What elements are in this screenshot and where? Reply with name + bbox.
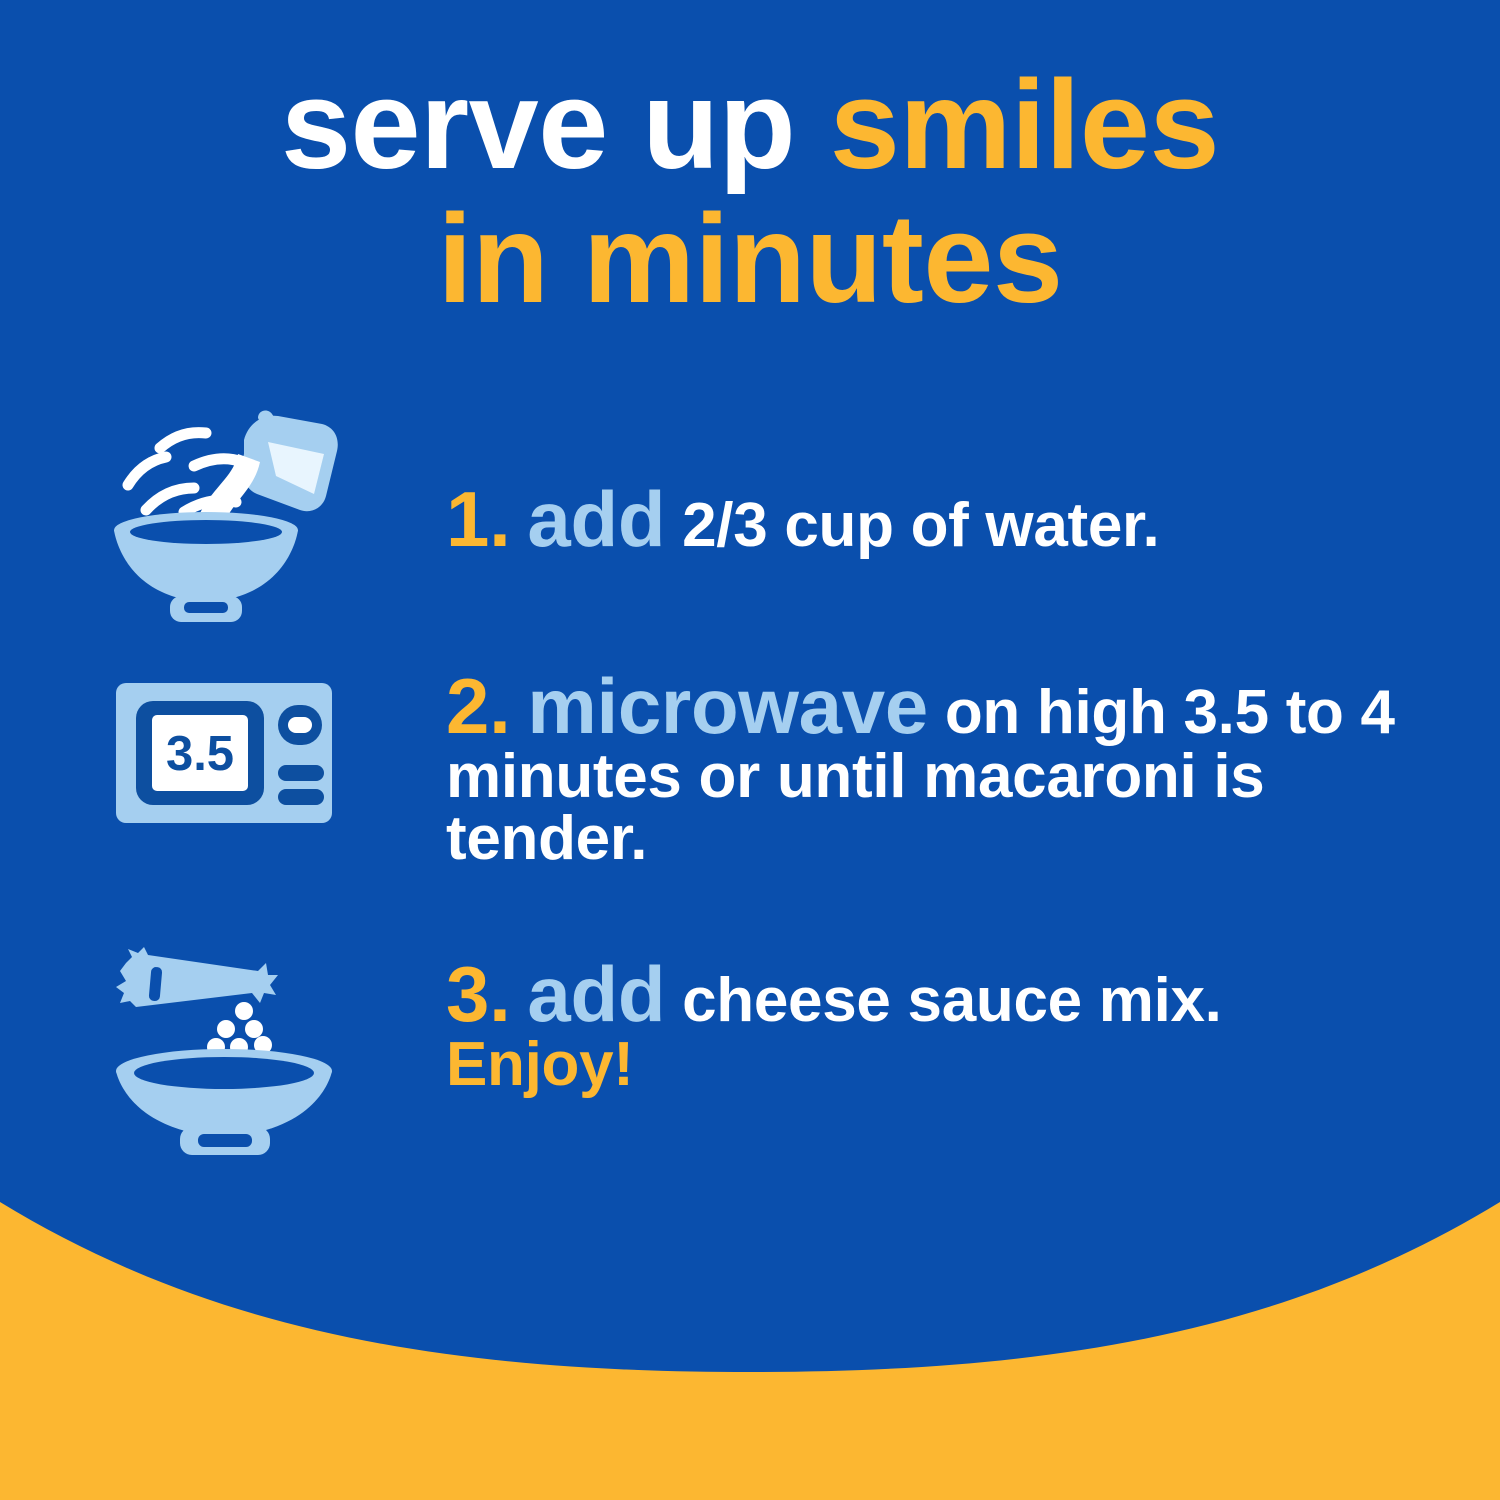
step-3-keyword: add	[527, 950, 665, 1038]
steps-list: 1. add 2/3 cup of water. 3.5	[0, 400, 1500, 1175]
step-item-3: 3. add cheese sauce mix. Enjoy!	[0, 945, 1500, 1175]
step-3-rest: cheese sauce mix.	[682, 966, 1222, 1035]
step-item-1: 1. add 2/3 cup of water.	[0, 400, 1500, 645]
bottom-orange-wave	[0, 1180, 1500, 1500]
step-1-number: 1.	[446, 475, 510, 563]
headline-text-smiles: smiles	[830, 54, 1219, 195]
step-2-text: 2. microwave on high 3.5 to 4 minutes or…	[446, 667, 1410, 871]
step-1-icon-wrap	[108, 400, 368, 625]
step-2-keyword: microwave	[527, 662, 928, 750]
page-title: serve up smiles in minutes	[0, 58, 1500, 325]
pour-water-into-bowl-icon	[108, 410, 340, 625]
headline-text-serve-up: serve up	[281, 54, 830, 195]
step-3-number: 3.	[446, 950, 510, 1038]
step-3-body: 3. add cheese sauce mix. Enjoy!	[368, 945, 1500, 1096]
step-2-icon-wrap: 3.5	[108, 645, 368, 833]
cheese-packet-into-bowl-icon	[108, 945, 340, 1157]
recipe-instruction-poster: serve up smiles in minutes	[0, 0, 1500, 1500]
step-2-body: 2. microwave on high 3.5 to 4 minutes or…	[368, 645, 1500, 871]
step-3-enjoy: Enjoy!	[446, 1030, 634, 1099]
step-2-number: 2.	[446, 662, 510, 750]
step-1-body: 1. add 2/3 cup of water.	[368, 400, 1500, 559]
step-3-icon-wrap	[108, 945, 368, 1157]
microwave-display-value: 3.5	[166, 727, 234, 781]
step-1-rest: 2/3 cup of water.	[682, 491, 1159, 560]
wave-shape	[0, 1180, 1500, 1500]
step-1-keyword: add	[527, 475, 665, 563]
headline-line-1: serve up smiles	[0, 58, 1500, 192]
step-3-text: 3. add cheese sauce mix. Enjoy!	[446, 955, 1410, 1096]
microwave-icon: 3.5	[108, 673, 340, 833]
step-item-2: 3.5 2. microwave on high 3.5 to 4 minute…	[0, 645, 1500, 945]
headline-line-2: in minutes	[0, 192, 1500, 326]
step-1-text: 1. add 2/3 cup of water.	[446, 480, 1410, 559]
